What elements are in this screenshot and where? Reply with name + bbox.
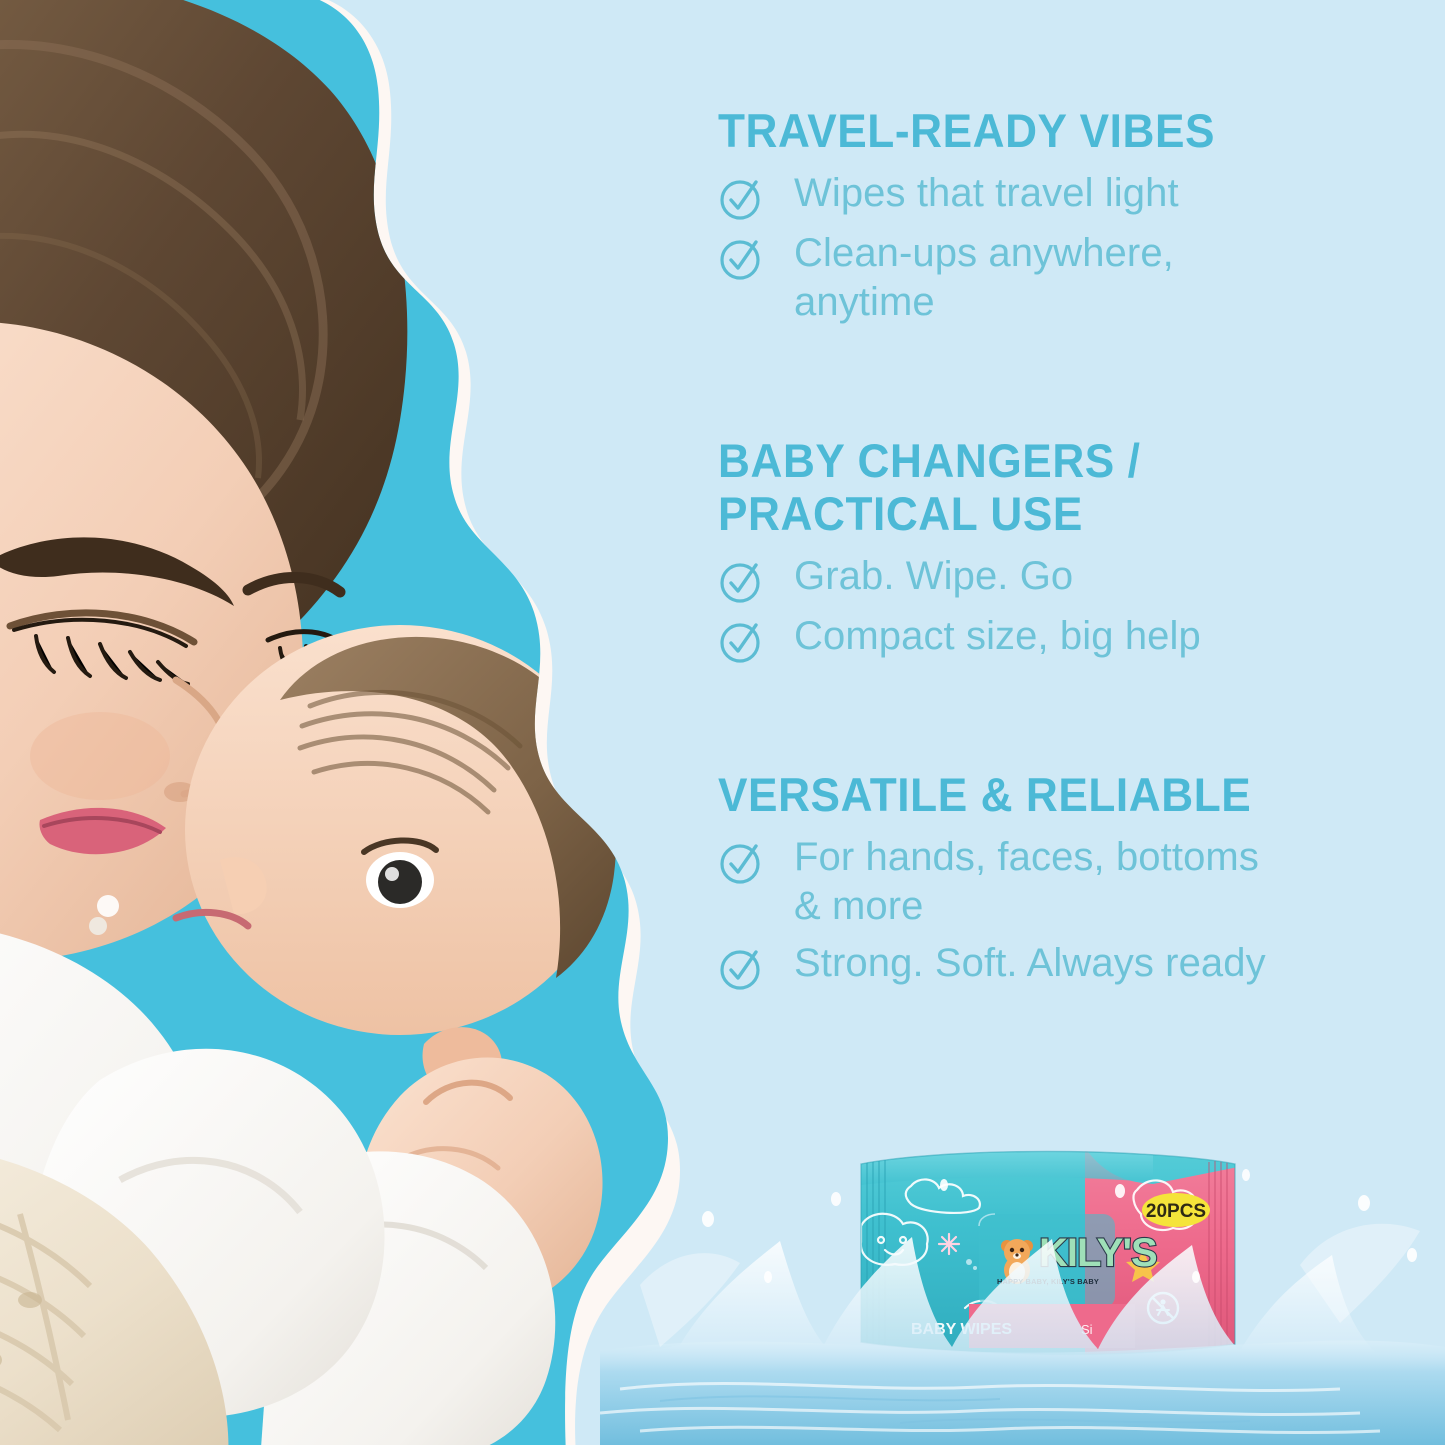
list-item: Strong. Soft. Always ready (713, 939, 1413, 991)
bullet-text: For hands, faces, bottoms & more (794, 833, 1259, 931)
section-heading-versatile-reliable: VERSATILE & RELIABLE (718, 768, 1371, 821)
list-item: For hands, faces, bottoms & more (713, 833, 1413, 931)
bullet-list-2: Grab. Wipe. Go Compact size, big help (713, 552, 1413, 664)
feature-section-1: TRAVEL-READY VIBES Wipes that travel lig… (713, 104, 1413, 335)
check-circle-icon (718, 618, 764, 664)
product-feature-graphic: TRAVEL-READY VIBES Wipes that travel lig… (0, 0, 1445, 1445)
bullet-text: Clean-ups anywhere, anytime (794, 229, 1174, 327)
check-circle-icon (718, 175, 764, 221)
list-item: Clean-ups anywhere, anytime (713, 229, 1413, 327)
list-item: Grab. Wipe. Go (713, 552, 1413, 604)
lifestyle-photo (0, 0, 680, 1445)
section-heading-baby-changers-practical-use: BABY CHANGERS / PRACTICAL USE (718, 434, 1371, 540)
check-circle-icon (718, 839, 764, 885)
photo-blob-shape (0, 0, 680, 1445)
check-circle-icon (718, 558, 764, 604)
bullet-text: Compact size, big help (794, 612, 1201, 661)
bullet-list-3: For hands, faces, bottoms & more Strong.… (713, 833, 1413, 991)
water-splash (600, 1145, 1445, 1445)
bullet-list-1: Wipes that travel light Clean-ups anywhe… (713, 169, 1413, 327)
list-item: Compact size, big help (713, 612, 1413, 664)
feature-section-2: BABY CHANGERS / PRACTICAL USE Grab. Wipe… (713, 434, 1413, 672)
photo-content (0, 0, 616, 1445)
feature-copy-column: TRAVEL-READY VIBES Wipes that travel lig… (713, 0, 1413, 1100)
feature-section-3: VERSATILE & RELIABLE For hands, faces, b… (713, 768, 1413, 999)
list-item: Wipes that travel light (713, 169, 1413, 221)
water-splash-art (600, 1145, 1445, 1445)
bullet-text: Wipes that travel light (794, 169, 1179, 218)
bullet-text: Strong. Soft. Always ready (794, 939, 1266, 988)
check-circle-icon (718, 235, 764, 281)
bullet-text: Grab. Wipe. Go (794, 552, 1073, 601)
section-heading-travel-ready-vibes: TRAVEL-READY VIBES (718, 104, 1371, 157)
check-circle-icon (718, 945, 764, 991)
